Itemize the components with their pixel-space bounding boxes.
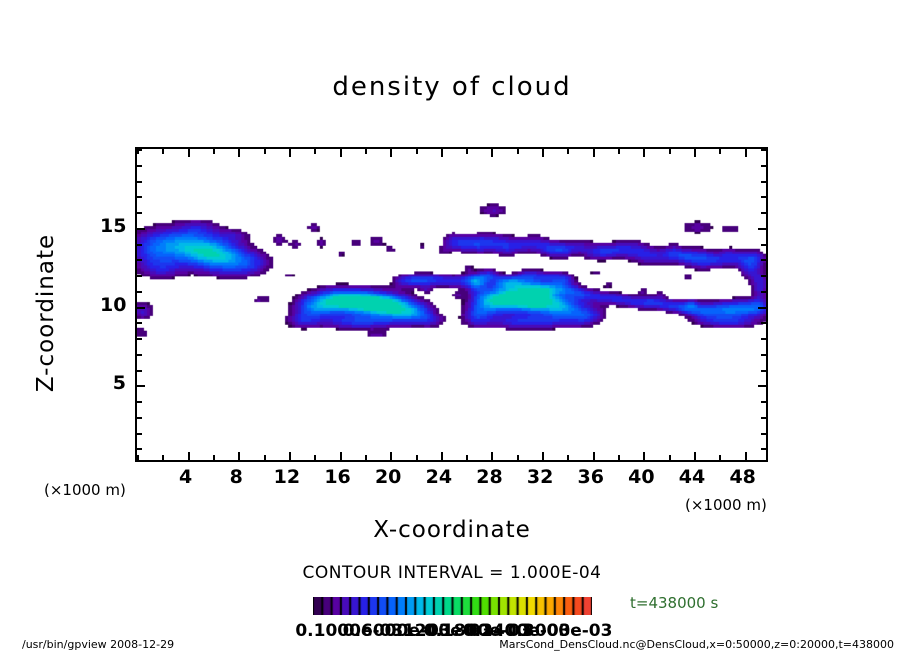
x-tick-top	[238, 149, 240, 157]
x-axis-units: (×1000 m)	[685, 496, 767, 514]
x-tick-label: 48	[729, 466, 755, 488]
y-tick	[137, 417, 142, 419]
x-tick	[466, 455, 468, 460]
y-tick-right	[761, 149, 766, 151]
x-tick	[213, 455, 215, 460]
x-tick-label: 32	[527, 466, 553, 488]
x-tick	[745, 452, 747, 460]
y-tick	[137, 291, 142, 293]
x-tick-top	[694, 149, 696, 157]
y-tick	[137, 275, 142, 277]
x-tick	[137, 455, 139, 460]
x-tick	[314, 455, 316, 460]
x-tick-top	[466, 149, 468, 154]
y-tick	[137, 165, 142, 167]
x-tick-top	[745, 149, 747, 157]
y-tick-right	[761, 275, 766, 277]
x-tick	[416, 455, 418, 460]
x-tick-top	[491, 149, 493, 157]
y-tick	[137, 228, 145, 230]
x-tick-top	[390, 149, 392, 157]
x-tick	[289, 452, 291, 460]
x-tick-top	[213, 149, 215, 154]
footer-dataset-info: MarsCond_DensCloud.nc@DensCloud,x=0:5000…	[499, 638, 894, 651]
y-tick	[137, 196, 142, 198]
y-tick	[137, 212, 142, 214]
y-tick-right	[761, 322, 766, 324]
x-tick	[542, 452, 544, 460]
y-tick-right	[761, 417, 766, 419]
y-tick-right	[758, 228, 766, 230]
x-tick	[517, 455, 519, 460]
y-tick	[137, 307, 145, 309]
x-tick	[162, 455, 164, 460]
y-tick-right	[761, 448, 766, 450]
y-tick-right	[761, 338, 766, 340]
x-axis-title: X-coordinate	[0, 517, 904, 543]
y-tick	[137, 448, 142, 450]
x-tick-label: 16	[324, 466, 350, 488]
x-tick-top	[618, 149, 620, 154]
y-tick	[137, 433, 142, 435]
y-tick	[137, 338, 142, 340]
contour-interval-label: CONTOUR INTERVAL = 1.000E-04	[0, 563, 904, 583]
x-tick-top	[517, 149, 519, 154]
y-tick	[137, 354, 142, 356]
x-tick-top	[314, 149, 316, 154]
x-tick	[365, 455, 367, 460]
y-tick	[137, 385, 145, 387]
x-tick-label: 40	[628, 466, 654, 488]
x-tick	[669, 455, 671, 460]
x-tick-top	[340, 149, 342, 157]
y-tick-right	[761, 354, 766, 356]
y-tick-right	[758, 385, 766, 387]
y-tick	[137, 370, 142, 372]
x-tick-top	[567, 149, 569, 154]
y-tick	[137, 181, 142, 183]
y-tick-right	[761, 212, 766, 214]
y-tick	[137, 244, 142, 246]
x-tick-label: 28	[476, 466, 502, 488]
x-tick-top	[188, 149, 190, 157]
x-tick-label: 4	[179, 466, 192, 488]
x-tick	[238, 452, 240, 460]
x-tick	[643, 452, 645, 460]
y-tick-label: 15	[100, 215, 126, 237]
time-label: t=438000 s	[630, 594, 718, 612]
x-tick-top	[719, 149, 721, 154]
y-axis-title: Z-coordinate	[33, 223, 59, 403]
x-tick	[694, 452, 696, 460]
x-tick-label: 8	[230, 466, 243, 488]
y-tick-right	[758, 307, 766, 309]
x-tick-top	[264, 149, 266, 154]
x-tick-top	[593, 149, 595, 157]
y-tick-right	[761, 291, 766, 293]
y-tick-right	[761, 259, 766, 261]
page-title: density of cloud	[0, 72, 904, 102]
x-tick	[340, 452, 342, 460]
colorbar[interactable]	[313, 597, 592, 615]
y-tick-right	[761, 370, 766, 372]
x-tick	[441, 452, 443, 460]
x-tick-label: 20	[375, 466, 401, 488]
x-tick-top	[542, 149, 544, 157]
x-tick-top	[162, 149, 164, 154]
y-tick-label: 10	[100, 294, 126, 316]
x-tick-label: 44	[679, 466, 705, 488]
y-tick-right	[761, 196, 766, 198]
x-tick	[593, 452, 595, 460]
x-tick-top	[137, 149, 139, 154]
x-tick	[491, 452, 493, 460]
y-tick	[137, 401, 142, 403]
x-tick	[618, 455, 620, 460]
x-tick	[719, 455, 721, 460]
y-tick-right	[761, 165, 766, 167]
y-tick-right	[761, 181, 766, 183]
cloud-density-field	[137, 149, 766, 460]
y-tick-right	[761, 244, 766, 246]
x-tick-top	[289, 149, 291, 157]
y-tick	[137, 259, 142, 261]
x-tick-top	[365, 149, 367, 154]
x-tick	[390, 452, 392, 460]
plot-area	[135, 147, 768, 462]
colorbar-gradient	[313, 597, 592, 615]
x-tick-label: 36	[578, 466, 604, 488]
y-tick-right	[761, 433, 766, 435]
y-tick	[137, 322, 142, 324]
x-tick-top	[669, 149, 671, 154]
x-tick-top	[441, 149, 443, 157]
x-tick	[188, 452, 190, 460]
x-tick-label: 12	[274, 466, 300, 488]
y-tick-label: 5	[100, 372, 126, 394]
y-tick-right	[761, 401, 766, 403]
x-tick-label: 24	[426, 466, 452, 488]
x-tick	[264, 455, 266, 460]
x-tick	[567, 455, 569, 460]
y-axis-units: (×1000 m)	[44, 481, 126, 499]
x-tick-top	[416, 149, 418, 154]
x-tick-top	[643, 149, 645, 157]
footer-command: /usr/bin/gpview 2008-12-29	[22, 638, 174, 651]
